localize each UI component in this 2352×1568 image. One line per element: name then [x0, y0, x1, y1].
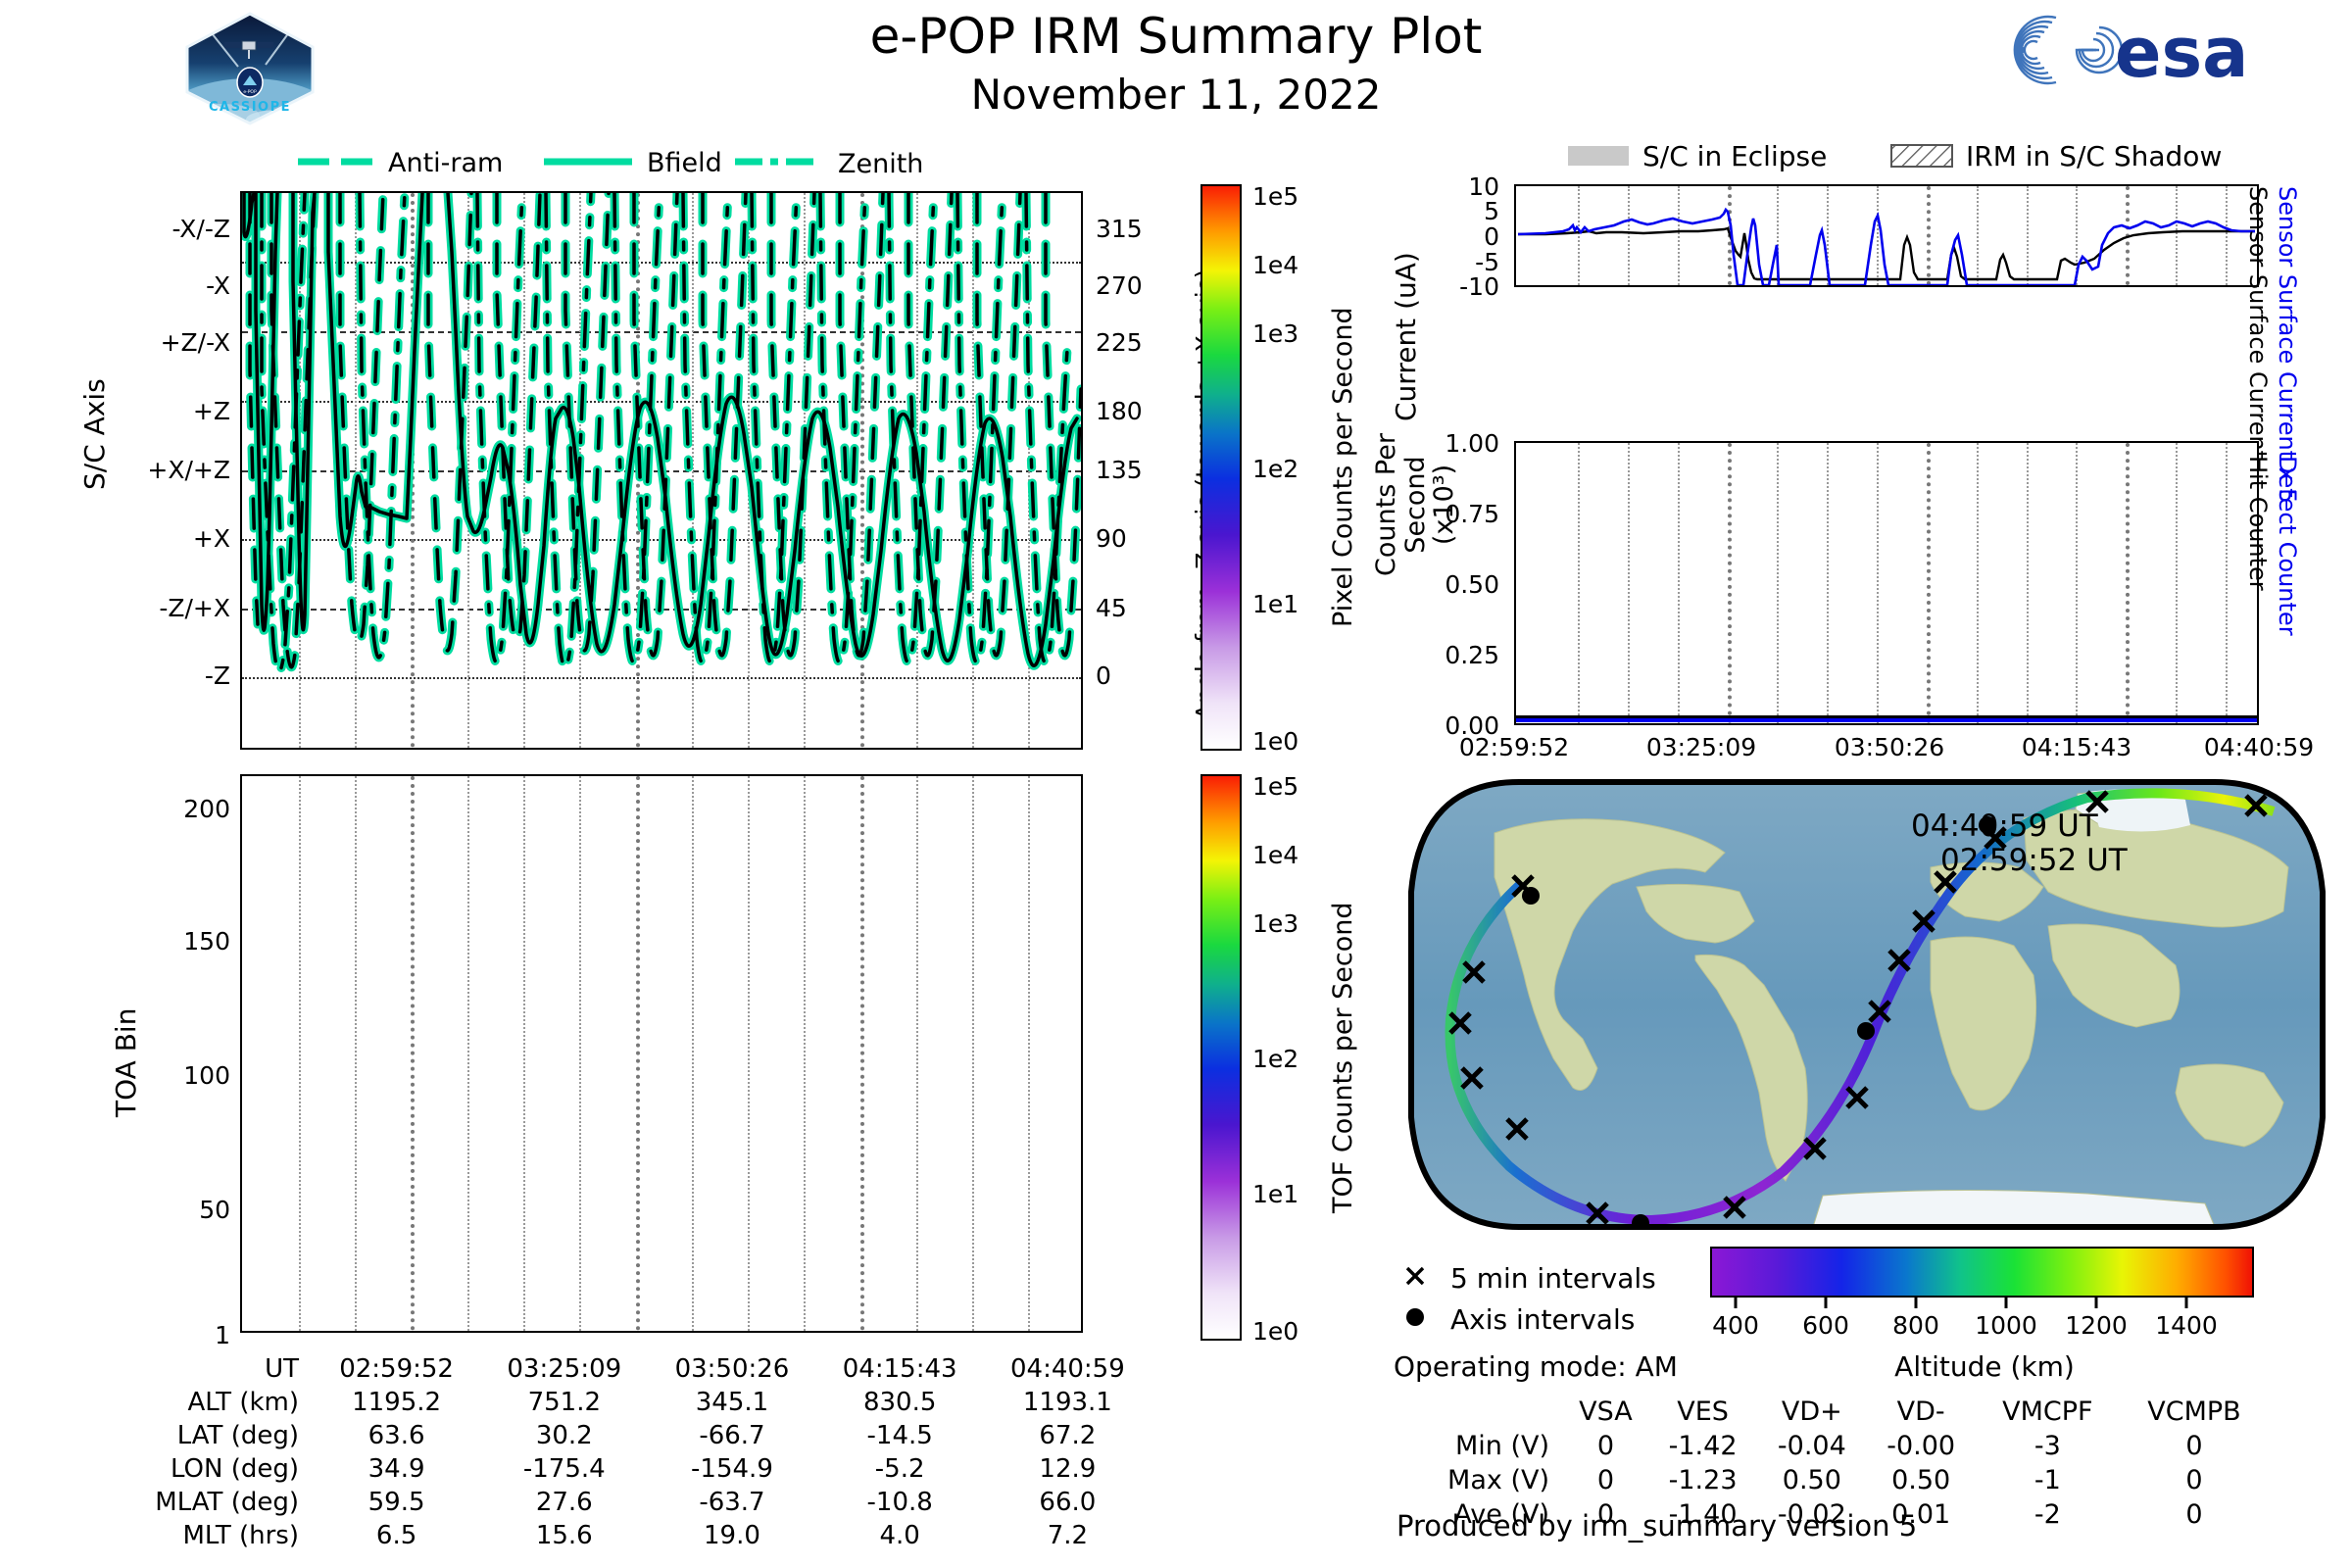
svg-text:IRM in S/C Shadow: IRM in S/C Shadow	[1966, 140, 2222, 172]
tof-cb-tick-1: 1e4	[1252, 841, 1298, 869]
altitude-tick-5: 1400	[2118, 1311, 2255, 1340]
cell: -175.4	[480, 1454, 648, 1488]
cell: -0.00	[1867, 1431, 1976, 1465]
cell: 0.50	[1867, 1465, 1976, 1499]
altitude-cb-ticks	[1710, 1298, 2259, 1309]
sc-axis-traces	[242, 193, 1081, 748]
current-right-label-blue: Sensor Surface Current x 5	[2301, 186, 2352, 214]
cell: 0	[1563, 1431, 1648, 1465]
cell: 0	[2120, 1499, 2269, 1534]
corner-cell	[1396, 1396, 1563, 1431]
table-row: ALT (km) 1195.2 751.2 345.1 830.5 1193.1	[93, 1388, 1151, 1421]
tof-counts-colorbar	[1200, 774, 1242, 1341]
toa-ytick-2: 100	[127, 1061, 230, 1090]
ground-track-map[interactable]	[1401, 774, 2332, 1235]
column-header: VSA	[1563, 1396, 1648, 1431]
cell: -1.23	[1648, 1465, 1757, 1499]
counts-plot[interactable]	[1514, 441, 2259, 725]
altitude-colorbar	[1710, 1247, 2254, 1298]
cell: 02:59:52	[313, 1354, 480, 1388]
cell: 03:25:09	[480, 1354, 648, 1388]
pixel-cb-tick-0: 1e5	[1252, 182, 1298, 211]
toa-ytick-0: 200	[127, 795, 230, 823]
map-legend-label-dot: Axis intervals	[1450, 1303, 1635, 1336]
angle-ytick-6: 45	[1096, 594, 1127, 622]
tof-cb-tick-5: 1e0	[1252, 1317, 1298, 1346]
cell: 04:40:59	[984, 1354, 1151, 1388]
counts-xtick-0: 02:59:52	[1426, 733, 1602, 761]
sc-axis-ytick-6: -Z/+X	[103, 594, 230, 622]
cell: 03:50:26	[648, 1354, 815, 1388]
row-label: MLT (hrs)	[93, 1521, 313, 1554]
cell: 12.9	[984, 1454, 1151, 1488]
cell: -1.42	[1648, 1431, 1757, 1465]
table-row: Max (V) 0 -1.23 0.50 0.50 -1 0	[1396, 1465, 2269, 1499]
ephemeris-table: UT 02:59:52 03:25:09 03:50:26 04:15:43 0…	[93, 1354, 1151, 1554]
toa-ylabel: TOA Bin	[110, 1117, 219, 1150]
toa-bin-plot[interactable]	[240, 774, 1083, 1333]
cell: -154.9	[648, 1454, 815, 1488]
cell: 1195.2	[313, 1388, 480, 1421]
cell: -5.2	[816, 1454, 984, 1488]
map-legend-dot-icon	[1401, 1303, 1431, 1329]
cell: -63.7	[648, 1488, 815, 1521]
row-label: LAT (deg)	[93, 1421, 313, 1454]
column-header: VD+	[1757, 1396, 1866, 1431]
counts-ytick-3: 0.25	[1392, 641, 1499, 669]
row-label: UT	[93, 1354, 313, 1388]
pixel-cb-tick-2: 1e3	[1252, 319, 1298, 348]
toa-ytick-1: 150	[127, 927, 230, 955]
cell: 59.5	[313, 1488, 480, 1521]
cell: 4.0	[816, 1521, 984, 1554]
cell: 345.1	[648, 1388, 815, 1421]
counts-right-label-blue: Detect Counter	[2301, 456, 2352, 483]
counts-zero-line-blue	[1516, 718, 2257, 722]
current-traces	[1516, 186, 2257, 285]
cell: -14.5	[816, 1421, 984, 1454]
current-ytick-2: 0	[1421, 222, 1499, 251]
cell: 751.2	[480, 1388, 648, 1421]
eclipse-swatch	[1568, 146, 1629, 166]
pixel-cb-tick-4: 1e1	[1252, 590, 1298, 618]
toa-ytick-3: 50	[127, 1196, 230, 1224]
row-label: Min (V)	[1396, 1431, 1563, 1465]
pixel-cb-tick-3: 1e2	[1252, 455, 1298, 483]
counts-ytick-2: 0.50	[1392, 570, 1499, 599]
cell: 1193.1	[984, 1388, 1151, 1421]
counts-ytick-0: 1.00	[1392, 429, 1499, 458]
current-ytick-4: -10	[1421, 272, 1499, 301]
cell: -0.04	[1757, 1431, 1866, 1465]
sc-axis-legend: Anti-ram Bfield	[294, 145, 843, 178]
esa-logo-icon: esa	[1989, 12, 2323, 88]
cell: 63.6	[313, 1421, 480, 1454]
angle-ytick-5: 90	[1096, 524, 1127, 553]
sc-axis-ytick-0: -X/-Z	[103, 215, 230, 243]
cell: 0	[2120, 1431, 2269, 1465]
svg-text:esa: esa	[2115, 13, 2248, 88]
cell: 6.5	[313, 1521, 480, 1554]
column-header: VES	[1648, 1396, 1757, 1431]
table-row: LON (deg) 34.9 -175.4 -154.9 -5.2 12.9	[93, 1454, 1151, 1488]
column-header: VMCPF	[1976, 1396, 2120, 1431]
cell: -3	[1976, 1431, 2120, 1465]
map-legend-label-x: 5 min intervals	[1450, 1262, 1656, 1295]
legend-label-bfield: Bfield	[647, 148, 722, 178]
cell: -1	[1976, 1465, 2120, 1499]
cell: -2	[1976, 1499, 2120, 1534]
svg-text:S/C in Eclipse: S/C in Eclipse	[1642, 140, 1827, 172]
sc-axis-ytick-7: -Z	[103, 661, 230, 690]
cell: 19.0	[648, 1521, 815, 1554]
table-row: Min (V) 0 -1.42 -0.04 -0.00 -3 0	[1396, 1431, 2269, 1465]
cell: 0	[1563, 1465, 1648, 1499]
current-ytick-1: 5	[1421, 197, 1499, 225]
sc-axis-ytick-2: +Z/-X	[103, 328, 230, 357]
pixel-cb-tick-5: 1e0	[1252, 727, 1298, 756]
cell: 15.6	[480, 1521, 648, 1554]
table-row: MLAT (deg) 59.5 27.6 -63.7 -10.8 66.0	[93, 1488, 1151, 1521]
cell: 67.2	[984, 1421, 1151, 1454]
column-header: VCMPB	[2120, 1396, 2269, 1431]
map-annotation-1: 02:59:52 UT	[1940, 843, 2128, 878]
sc-axis-plot[interactable]	[240, 191, 1083, 750]
sc-axis-ytick-3: +Z	[103, 397, 230, 425]
tof-cb-tick-0: 1e5	[1252, 772, 1298, 801]
row-label: ALT (km)	[93, 1388, 313, 1421]
row-label: Max (V)	[1396, 1465, 1563, 1499]
row-label: MLAT (deg)	[93, 1488, 313, 1521]
cell: 7.2	[984, 1521, 1151, 1554]
counts-xtick-2: 03:50:26	[1801, 733, 1978, 761]
tof-cb-tick-4: 1e1	[1252, 1180, 1298, 1208]
angle-ytick-2: 225	[1096, 328, 1143, 357]
angle-ytick-1: 270	[1096, 271, 1143, 300]
cell: 30.2	[480, 1421, 648, 1454]
map-legend	[1401, 1262, 1431, 1288]
map-annotation-0: 04:40:59 UT	[1911, 808, 2098, 844]
shade-legend: S/C in Eclipse IRM in S/C Shadow	[1568, 139, 2254, 174]
counts-xtick-3: 04:15:43	[1988, 733, 2165, 761]
operating-mode-label: Operating mode: AM	[1394, 1350, 1678, 1383]
cell: 830.5	[816, 1388, 984, 1421]
cell: -10.8	[816, 1488, 984, 1521]
svg-text:e-POP: e-POP	[243, 89, 257, 95]
counts-xtick-4: 04:40:59	[2171, 733, 2347, 761]
tof-cb-tick-3: 1e2	[1252, 1045, 1298, 1073]
cell: -66.7	[648, 1421, 815, 1454]
table-row: LAT (deg) 63.6 30.2 -66.7 -14.5 67.2	[93, 1421, 1151, 1454]
table-row: MLT (hrs) 6.5 15.6 19.0 4.0 7.2	[93, 1521, 1151, 1554]
cell: 04:15:43	[816, 1354, 984, 1388]
cell: 66.0	[984, 1488, 1151, 1521]
column-header: VD-	[1867, 1396, 1976, 1431]
produced-by-footer: Produced by irm_summary version 5	[1396, 1509, 1917, 1543]
current-plot[interactable]	[1514, 184, 2259, 287]
shadow-swatch	[1891, 145, 1952, 167]
legend-label-anti-ram: Anti-ram	[388, 148, 503, 178]
angle-ytick-7: 0	[1096, 661, 1111, 690]
counts-xtick-1: 03:25:09	[1613, 733, 1789, 761]
table-row: UT 02:59:52 03:25:09 03:50:26 04:15:43 0…	[93, 1354, 1151, 1388]
toa-ytick-4: 1	[127, 1321, 230, 1349]
pixel-counts-colorbar	[1200, 184, 1242, 751]
angle-ytick-0: 315	[1096, 215, 1143, 243]
cell: 0.50	[1757, 1465, 1866, 1499]
cassiope-patch-icon: e-POP CASSIOPE	[181, 10, 318, 127]
cell: 34.9	[313, 1454, 480, 1488]
counts-ytick-1: 0.75	[1392, 500, 1499, 528]
sc-axis-ytick-4: +X/+Z	[103, 456, 230, 484]
angle-ytick-4: 135	[1096, 456, 1143, 484]
cell: 0	[2120, 1465, 2269, 1499]
pixel-cb-tick-1: 1e4	[1252, 251, 1298, 279]
sc-axis-ytick-5: +X	[103, 524, 230, 553]
legend-label-zenith: Zenith	[838, 149, 923, 179]
counts-zero-line-black	[1516, 715, 2257, 718]
sc-axis-ylabel: S/C Axis	[78, 490, 190, 522]
altitude-cb-label: Altitude (km)	[1808, 1350, 2161, 1383]
cell: 27.6	[480, 1488, 648, 1521]
row-label: LON (deg)	[93, 1454, 313, 1488]
angle-ytick-3: 180	[1096, 397, 1143, 425]
tof-cb-tick-2: 1e3	[1252, 909, 1298, 938]
cassiope-patch-label: CASSIOPE	[209, 100, 291, 115]
table-header-row: VSA VES VD+ VD- VMCPF VCMPB	[1396, 1396, 2269, 1431]
sc-axis-ytick-1: -X	[103, 271, 230, 300]
